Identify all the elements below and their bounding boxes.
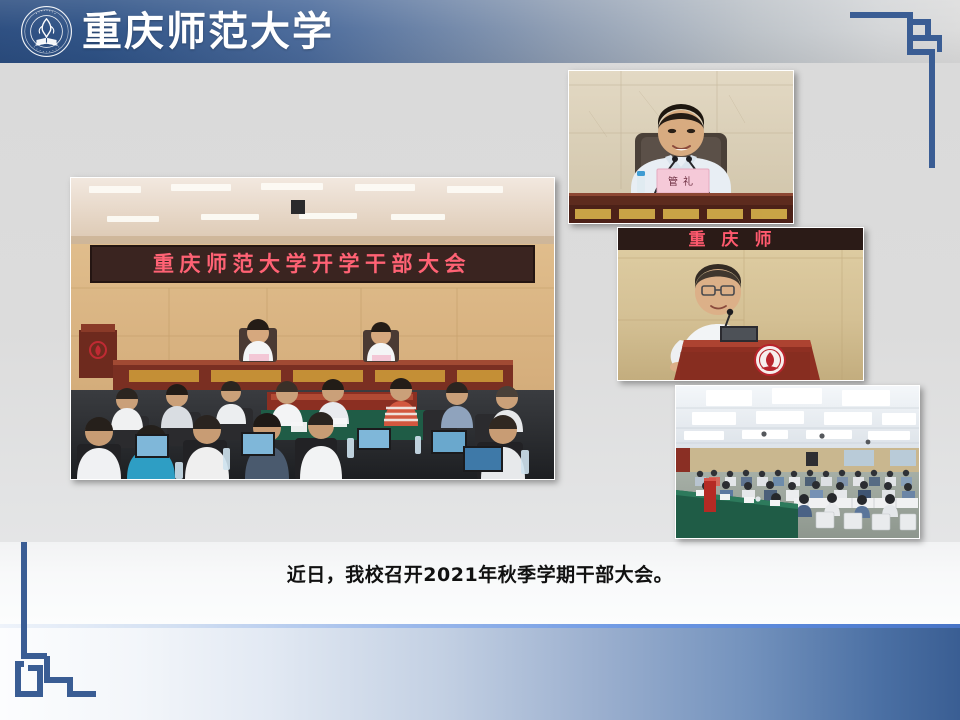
university-logo-icon bbox=[20, 5, 73, 58]
corner-ornament-top-right-icon bbox=[850, 8, 942, 168]
footer-band bbox=[0, 628, 960, 720]
speaker-at-podium-photo: 重庆师 bbox=[617, 227, 864, 381]
leader-at-desk-photo: 管礼 bbox=[568, 70, 794, 224]
conference-hall-main-photo: 重庆师范大学开学干部大会 bbox=[70, 177, 555, 480]
slide-header: 重庆师范大学 bbox=[0, 0, 960, 63]
svg-text:管礼: 管礼 bbox=[668, 175, 698, 188]
svg-text:重庆师: 重庆师 bbox=[689, 229, 788, 250]
slide-canvas: 重庆师范大学 bbox=[0, 0, 960, 720]
slide-caption: 近日，我校召开2021年秋季学期干部大会。 bbox=[0, 560, 960, 587]
university-wordmark: 重庆师范大学 bbox=[82, 4, 334, 59]
audience-seating-photo bbox=[675, 385, 920, 539]
svg-text:重庆师范大学开学干部大会: 重庆师范大学开学干部大会 bbox=[153, 252, 471, 276]
